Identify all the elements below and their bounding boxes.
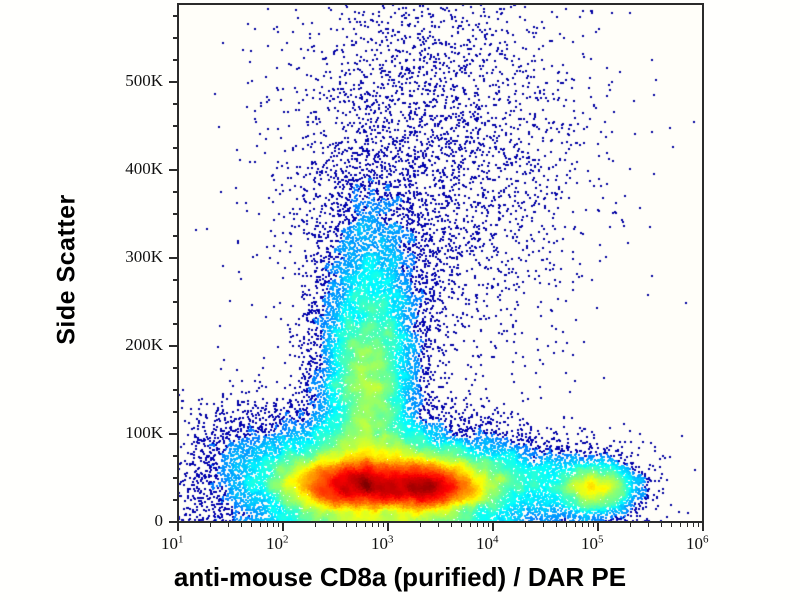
x-tick-minor <box>648 522 649 527</box>
x-tick-minor <box>278 522 279 527</box>
x-tick-minor <box>566 522 567 527</box>
y-tick-minor <box>173 235 178 237</box>
y-tick-minor <box>173 37 178 39</box>
x-axis-title: anti-mouse CD8a (purified) / DAR PE <box>0 562 800 593</box>
x-tick-major <box>282 522 284 531</box>
x-tick-minor <box>671 522 672 527</box>
x-tick-major <box>387 522 389 531</box>
x-tick-minor <box>365 522 366 527</box>
y-tick-minor <box>173 301 178 303</box>
y-tick-minor <box>173 411 178 413</box>
x-tick-major <box>492 522 494 531</box>
x-tick-minor <box>556 522 557 527</box>
x-tick-major <box>702 522 704 531</box>
y-tick-label: 400K <box>78 159 163 179</box>
x-tick-minor <box>260 522 261 527</box>
x-tick-major <box>597 522 599 531</box>
y-tick-minor <box>173 455 178 457</box>
x-tick-minor <box>543 522 544 527</box>
y-tick-label: 200K <box>78 335 163 355</box>
y-tick-minor <box>173 59 178 61</box>
y-tick-minor <box>173 213 178 215</box>
y-tick-minor <box>173 147 178 149</box>
x-tick-minor <box>680 522 681 527</box>
scatter-density-canvas <box>178 3 703 522</box>
y-tick-minor <box>173 15 178 17</box>
y-tick-minor <box>173 191 178 193</box>
y-tick-minor <box>173 323 178 325</box>
x-tick-minor <box>356 522 357 527</box>
x-tick-minor <box>420 522 421 527</box>
x-tick-minor <box>241 522 242 527</box>
y-tick-major <box>169 81 178 83</box>
y-tick-major <box>169 433 178 435</box>
x-tick-minor <box>267 522 268 527</box>
y-tick-minor <box>173 389 178 391</box>
y-tick-minor <box>173 499 178 501</box>
x-tick-minor <box>346 522 347 527</box>
x-tick-minor <box>525 522 526 527</box>
y-tick-major <box>169 257 178 259</box>
y-tick-major <box>169 345 178 347</box>
x-tick-minor <box>451 522 452 527</box>
x-tick-minor <box>630 522 631 527</box>
x-tick-minor <box>661 522 662 527</box>
x-tick-minor <box>483 522 484 527</box>
plot-area <box>178 3 703 522</box>
x-tick-label: 102 <box>266 534 289 554</box>
x-tick-minor <box>593 522 594 527</box>
x-tick-minor <box>210 522 211 527</box>
y-tick-label: 0 <box>78 511 163 531</box>
y-tick-minor <box>173 477 178 479</box>
x-tick-major <box>177 522 179 531</box>
x-tick-minor <box>693 522 694 527</box>
x-tick-label: 106 <box>686 534 709 554</box>
x-tick-minor <box>228 522 229 527</box>
x-tick-minor <box>588 522 589 527</box>
x-tick-minor <box>383 522 384 527</box>
y-axis-title: Side Scatter <box>53 170 82 370</box>
x-tick-minor <box>575 522 576 527</box>
x-tick-minor <box>477 522 478 527</box>
x-tick-minor <box>698 522 699 527</box>
plot-right-border <box>702 3 704 524</box>
x-tick-minor <box>687 522 688 527</box>
flow-cytometry-plot-figure: 0100K200K300K400K500K101102103104105106 … <box>0 0 800 600</box>
y-tick-label: 300K <box>78 247 163 267</box>
y-tick-label: 500K <box>78 71 163 91</box>
y-tick-minor <box>173 125 178 127</box>
x-tick-minor <box>438 522 439 527</box>
x-tick-minor <box>582 522 583 527</box>
plot-top-border <box>177 3 704 5</box>
y-tick-minor <box>173 103 178 105</box>
y-tick-label: 100K <box>78 423 163 443</box>
y-tick-minor <box>173 367 178 369</box>
x-tick-label: 103 <box>371 534 394 554</box>
x-tick-minor <box>315 522 316 527</box>
x-tick-minor <box>333 522 334 527</box>
x-tick-minor <box>378 522 379 527</box>
x-tick-minor <box>273 522 274 527</box>
x-tick-minor <box>372 522 373 527</box>
x-tick-minor <box>461 522 462 527</box>
x-tick-minor <box>251 522 252 527</box>
x-tick-minor <box>488 522 489 527</box>
y-tick-minor <box>173 279 178 281</box>
x-tick-label: 101 <box>161 534 184 554</box>
x-tick-label: 104 <box>476 534 499 554</box>
x-tick-label: 105 <box>581 534 604 554</box>
y-tick-major <box>169 169 178 171</box>
x-tick-minor <box>470 522 471 527</box>
x-axis-line <box>177 521 704 523</box>
